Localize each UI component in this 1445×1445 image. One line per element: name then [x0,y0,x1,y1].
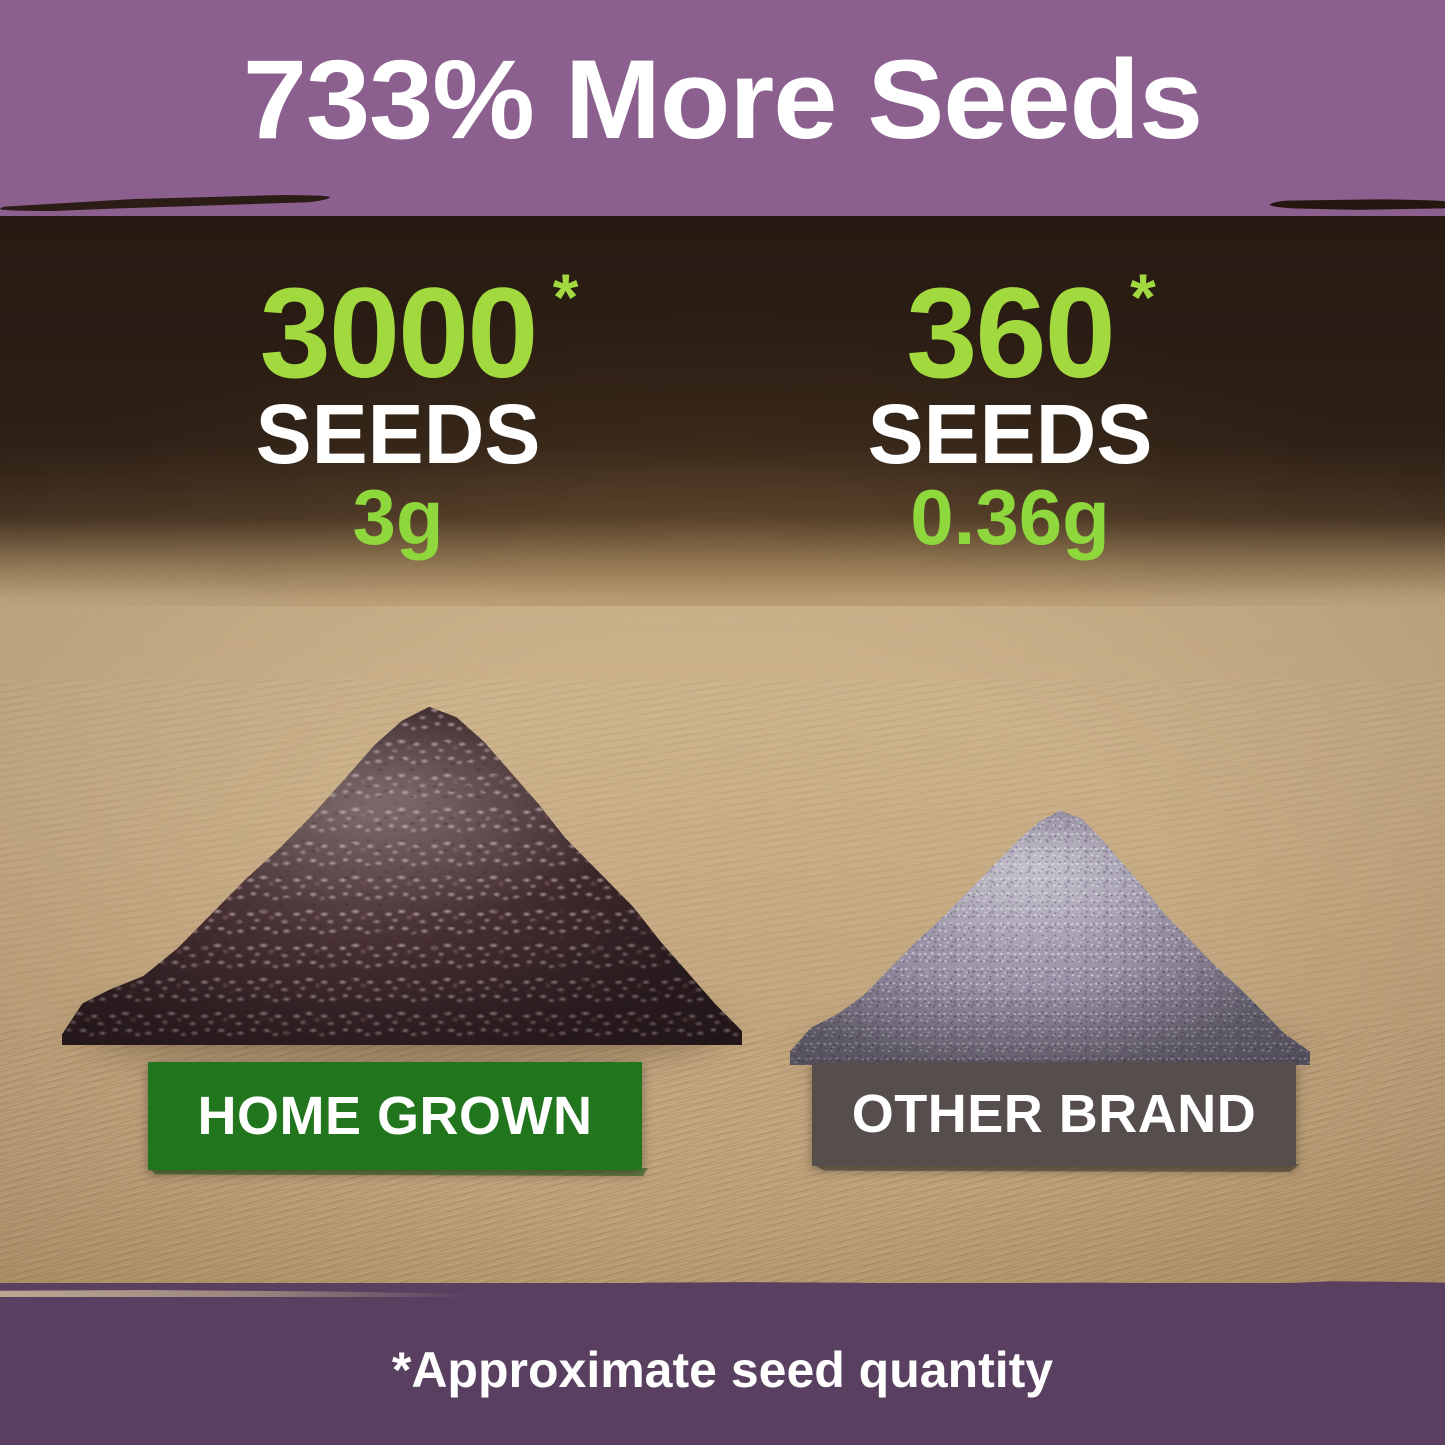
seed-comparison-infographic: 733% More Seeds 3000 * SEEDS 3g 360 * SE… [0,0,1445,1445]
asterisk-icon-other-brand: * [1130,264,1156,330]
stat-column-other-brand: 360 * SEEDS 0.36g [730,270,1290,556]
seed-weight-home-grown: 3g [118,478,678,556]
seed-count-value-home-grown: 3000 [260,270,537,398]
asterisk-icon-home-grown: * [553,264,579,330]
seed-weight-other-brand: 0.36g [730,478,1290,556]
seed-pile-body-home-grown [62,700,742,1045]
brush-stroke-left-decoration [0,193,330,213]
brand-label-other-brand: OTHER BRAND [812,1062,1296,1166]
brush-stroke-right-decoration [1270,197,1445,212]
seed-count-row-home-grown: 3000 * [260,270,537,398]
seed-pile-shading [62,700,742,1045]
page-title: 733% More Seeds [0,44,1445,156]
seed-pile-shading [790,800,1310,1065]
seed-pile-home-grown [62,700,742,1045]
seed-pile-other-brand [790,800,1310,1065]
stat-column-home-grown: 3000 * SEEDS 3g [118,270,678,556]
seed-count-row-other-brand: 360 * [906,270,1114,398]
brand-label-home-grown: HOME GROWN [148,1062,642,1170]
footnote-text: *Approximate seed quantity [0,1345,1445,1395]
seed-pile-body-other-brand [790,800,1310,1065]
seed-count-value-other-brand: 360 [906,270,1114,398]
brand-label-text-home-grown: HOME GROWN [198,1085,593,1147]
brand-label-text-other-brand: OTHER BRAND [852,1083,1257,1145]
